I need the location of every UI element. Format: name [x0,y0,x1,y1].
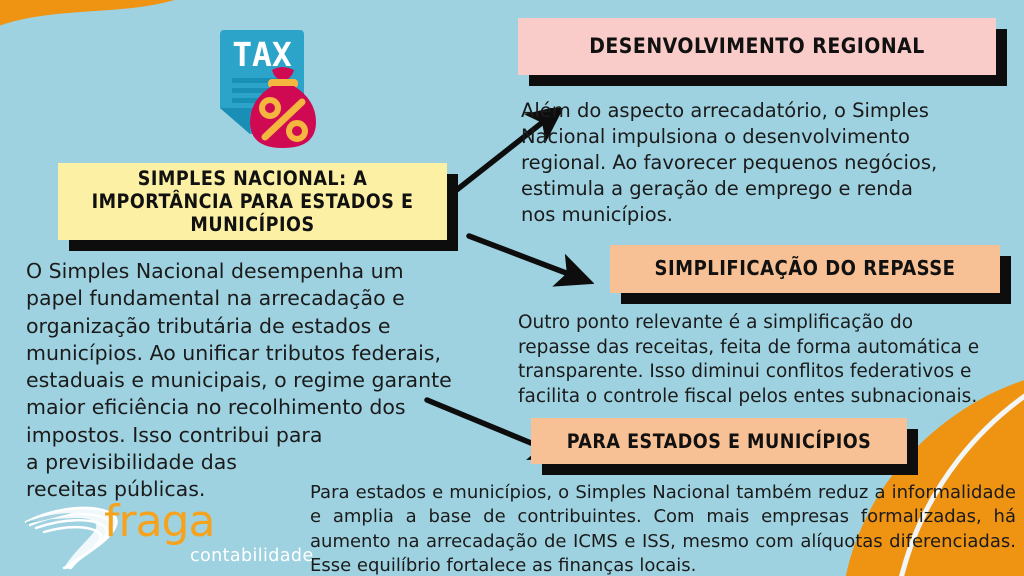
main-title-banner: SIMPLES NACIONAL: A IMPORTÂNCIA PARA EST… [58,163,447,240]
paragraph-para-estados-e-municipios: Para estados e municípios, o Simples Nac… [310,481,1016,576]
section-heading-desenvolvimento-regional: DESENVOLVIMENTO REGIONAL [518,18,996,75]
section-heading-simplificacao-do-repasse: SIMPLIFICAÇÃO DO REPASSE [610,245,1000,293]
logo-tagline: contabilidade [190,548,314,566]
logo-wordmark: fraga [104,500,214,544]
paragraph-simplificacao-do-repasse: Outro ponto relevante é a simplificação … [518,311,1018,409]
infographic-canvas: TAX [0,0,1024,576]
paragraph-desenvolvimento-regional: Além do aspecto arrecadatório, o Simples… [521,98,1001,228]
section-heading-para-estados-e-municipios: PARA ESTADOS E MUNICÍPIOS [531,418,907,464]
tax-document-icon: TAX [210,22,336,154]
intro-paragraph: O Simples Nacional desempenha um papel f… [26,258,516,503]
